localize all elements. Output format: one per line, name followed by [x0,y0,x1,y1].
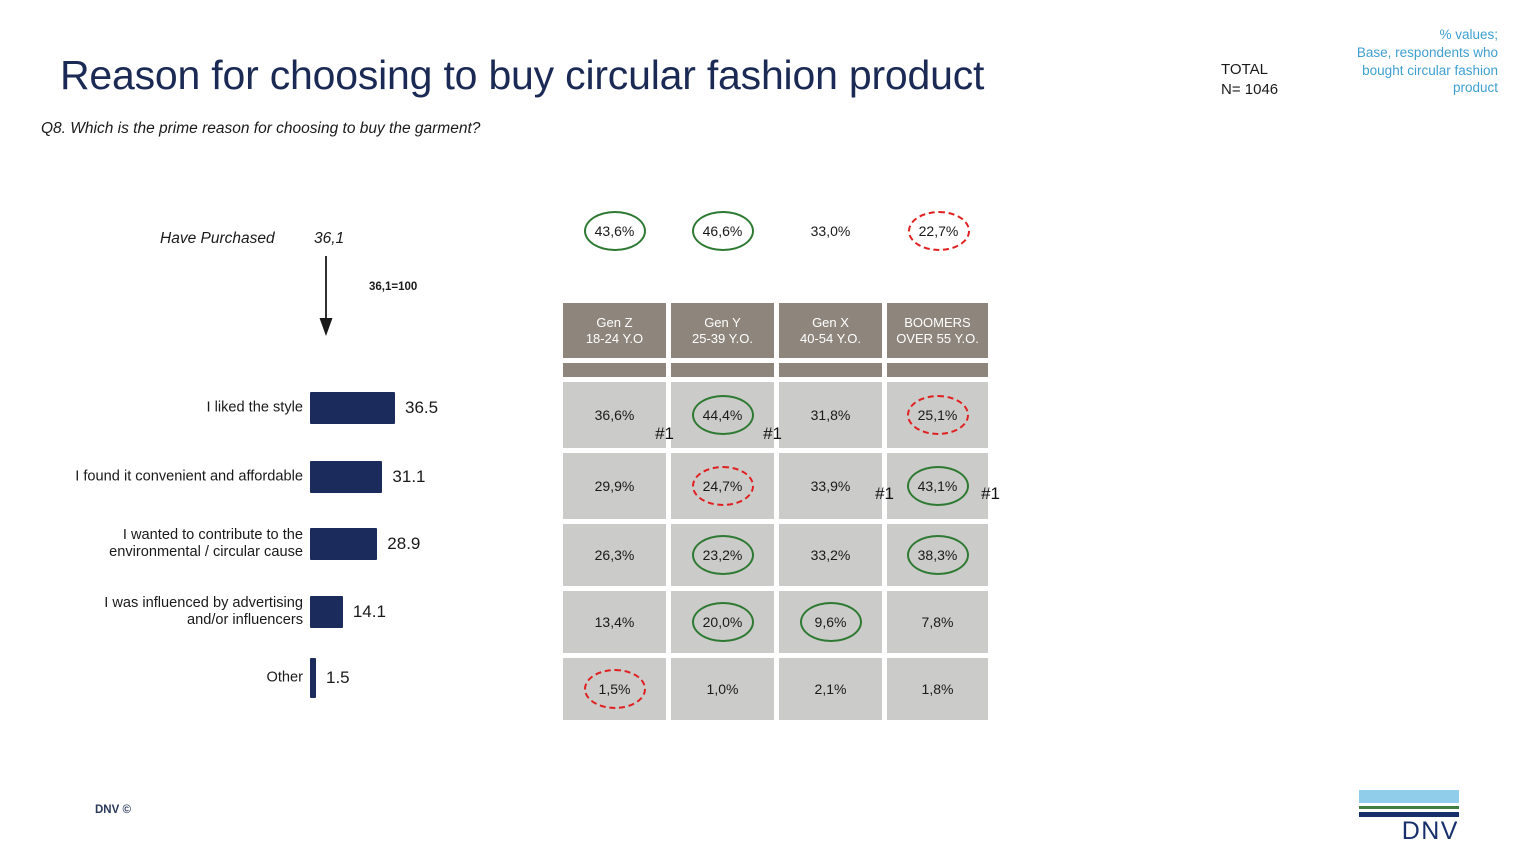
cell-value: 1,5% [599,681,631,697]
index-note: 36,1=100 [369,281,417,293]
table-column-header-1: Gen Z18-24 Y.O [563,303,666,358]
cell-value: 43,1% [918,478,958,494]
table-cell: 20,0% [671,591,774,653]
bar-category-label: I found it convenient and affordable [63,468,303,485]
table-column-header-3: Gen X40-54 Y.O. [779,303,882,358]
table-cell: 33,2% [779,524,882,586]
column-age-range: OVER 55 Y.O. [896,331,979,347]
cell-value: 23,2% [703,547,743,563]
bar-value-label: 31.1 [392,467,425,487]
bar-value-label: 36.5 [405,398,438,418]
bar-category-label: Other [63,669,303,686]
table-cell: 44,4%#1 [671,382,774,448]
cell-value: 31,8% [811,407,851,423]
bar-row: I found it convenient and affordable31.1 [0,457,520,497]
table-cell: 9,6% [779,591,882,653]
cell-value: 20,0% [703,614,743,630]
table-cell: 1,5% [563,658,666,720]
bar [310,392,395,424]
column-name: Gen X [800,315,861,331]
bar [310,658,316,698]
bar-category-label: I was influenced by advertising and/or i… [63,595,303,629]
generation-table: Gen Z18-24 Y.OGen Y25-39 Y.O.Gen X40-54 … [563,303,988,720]
table-cell: 29,9% [563,453,666,519]
cell-value: 36,6% [595,407,635,423]
cell-value: 26,3% [595,547,635,563]
table-column-header-2: Gen Y25-39 Y.O. [671,303,774,358]
slide-root: Reason for choosing to buy circular fash… [0,0,1520,852]
column-age-range: 18-24 Y.O [586,331,643,347]
base-note-line-1: % values; [1298,26,1498,44]
down-arrow-icon [312,256,342,345]
logo-stripe-green [1359,806,1459,809]
table-row: 1,5%1,0%2,1%1,8% [563,658,988,720]
dnv-logo: DNV [1359,790,1459,844]
cell-value: 33,9% [811,478,851,494]
table-cell: 24,7% [671,453,774,519]
table-cell: 31,8% [779,382,882,448]
top-percentage-value: 33,0% [811,223,851,239]
top-percentage-value: 46,6% [703,223,743,239]
rank-badge: #1 [655,424,674,444]
bar-row: I wanted to contribute to the environmen… [0,524,520,564]
total-value: N= 1046 [1221,80,1278,100]
bar-row: I liked the style36.5 [0,388,520,428]
cell-value: 29,9% [595,478,635,494]
bar [310,528,377,560]
top-percentage-cell: 33,0% [779,215,882,247]
cell-value: 44,4% [703,407,743,423]
top-percentage-value: 22,7% [919,223,959,239]
table-row: 13,4%20,0%9,6%7,8% [563,591,988,653]
table-cell: 43,1%#1 [887,453,988,519]
bar-value-label: 1.5 [326,668,350,688]
base-note: % values; Base, respondents who bought c… [1298,26,1498,97]
bar-category-label: I liked the style [63,399,303,416]
cell-value: 24,7% [703,478,743,494]
cell-value: 1,0% [707,681,739,697]
cell-value: 25,1% [918,407,958,423]
footer-copyright: DNV © [95,804,131,816]
table-body: 36,6%#144,4%#131,8%25,1%29,9%24,7%33,9%#… [563,382,988,720]
rank-badge: #1 [875,484,894,504]
column-name: Gen Y [692,315,753,331]
total-block: TOTAL N= 1046 [1221,60,1278,101]
subband-cell [779,363,882,377]
cell-value: 33,2% [811,547,851,563]
base-note-line-2: Base, respondents who [1298,44,1498,62]
cell-value: 1,8% [922,681,954,697]
column-name: BOOMERS [896,315,979,331]
have-purchased-value: 36,1 [314,230,344,248]
top-percentage-value: 43,6% [595,223,635,239]
table-cell: 1,8% [887,658,988,720]
top-percentage-cell: 43,6% [563,215,666,247]
table-cell: 25,1% [887,382,988,448]
page-title: Reason for choosing to buy circular fash… [60,52,984,99]
top-percentage-cell: 22,7% [887,215,990,247]
table-column-header-4: BOOMERSOVER 55 Y.O. [887,303,988,358]
table-cell: 26,3% [563,524,666,586]
column-age-range: 40-54 Y.O. [800,331,861,347]
bar [310,596,343,628]
table-cell: 13,4% [563,591,666,653]
table-cell: 1,0% [671,658,774,720]
cell-value: 9,6% [815,614,847,630]
question-subtitle: Q8. Which is the prime reason for choosi… [41,120,480,138]
column-age-range: 25-39 Y.O. [692,331,753,347]
bar-category-label: I wanted to contribute to the environmen… [63,527,303,561]
logo-wordmark: DNV [1359,819,1459,844]
table-row: 26,3%23,2%33,2%38,3% [563,524,988,586]
total-label: TOTAL [1221,60,1278,80]
table-header-row: Gen Z18-24 Y.OGen Y25-39 Y.O.Gen X40-54 … [563,303,988,358]
table-cell: 36,6%#1 [563,382,666,448]
table-cell: 33,9%#1 [779,453,882,519]
subband-cell [887,363,988,377]
subband-cell [671,363,774,377]
cell-value: 7,8% [922,614,954,630]
bar [310,461,382,493]
base-note-line-4: product [1298,79,1498,97]
subband-cell [563,363,666,377]
bar-value-label: 14.1 [353,602,386,622]
table-cell: 23,2% [671,524,774,586]
top-percentage-cell: 46,6% [671,215,774,247]
have-purchased-label: Have Purchased [160,230,275,248]
bar-row: Other1.5 [0,658,520,698]
table-cell: 38,3% [887,524,988,586]
cell-value: 13,4% [595,614,635,630]
table-cell: 7,8% [887,591,988,653]
bar-value-label: 28.9 [387,534,420,554]
table-cell: 2,1% [779,658,882,720]
logo-stripe-light-blue [1359,790,1459,803]
bar-row: I was influenced by advertising and/or i… [0,592,520,632]
table-row: 29,9%24,7%33,9%#143,1%#1 [563,453,988,519]
base-note-line-3: bought circular fashion [1298,62,1498,80]
rank-badge: #1 [981,484,1000,504]
column-name: Gen Z [586,315,643,331]
table-subheader-band [563,363,988,377]
cell-value: 38,3% [918,547,958,563]
table-row: 36,6%#144,4%#131,8%25,1% [563,382,988,448]
cell-value: 2,1% [815,681,847,697]
rank-badge: #1 [763,424,782,444]
